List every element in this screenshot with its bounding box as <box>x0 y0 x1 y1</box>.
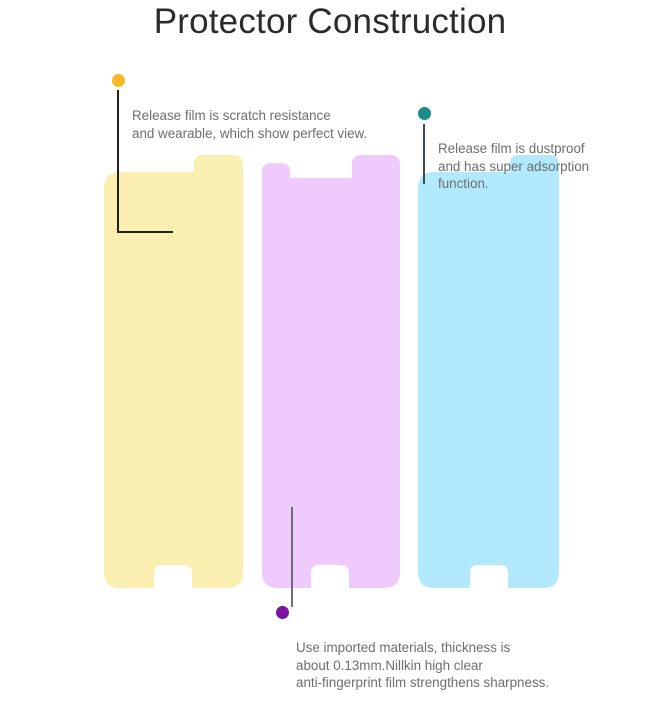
leader-line-yellow-vertical <box>117 90 119 233</box>
film-yellow <box>104 155 243 588</box>
callout-text-scratch: Release film is scratch resistance and w… <box>132 107 402 142</box>
protector-construction-page: Protector Construction <box>0 0 660 660</box>
callout-text-materials: Use imported materials, thickness is abo… <box>296 639 596 692</box>
callout-release-film-scratch: Release film is scratch resistance and w… <box>132 72 402 160</box>
callout-dot-yellow-icon <box>112 74 125 87</box>
leader-line-yellow-horizontal <box>117 231 173 233</box>
callout-imported-materials: Use imported materials, thickness is abo… <box>296 604 596 709</box>
callout-text-dustproof: Release film is dustproof and has super … <box>438 140 628 193</box>
leader-line-teal-vertical <box>423 124 425 184</box>
callout-release-film-dustproof: Release film is dustproof and has super … <box>438 105 628 210</box>
page-title: Protector Construction <box>0 2 660 42</box>
callout-dot-purple-icon <box>276 606 289 619</box>
film-pink <box>262 155 400 588</box>
callout-dot-teal-icon <box>418 107 431 120</box>
film-blue <box>418 155 559 588</box>
leader-line-purple-vertical <box>291 507 293 607</box>
